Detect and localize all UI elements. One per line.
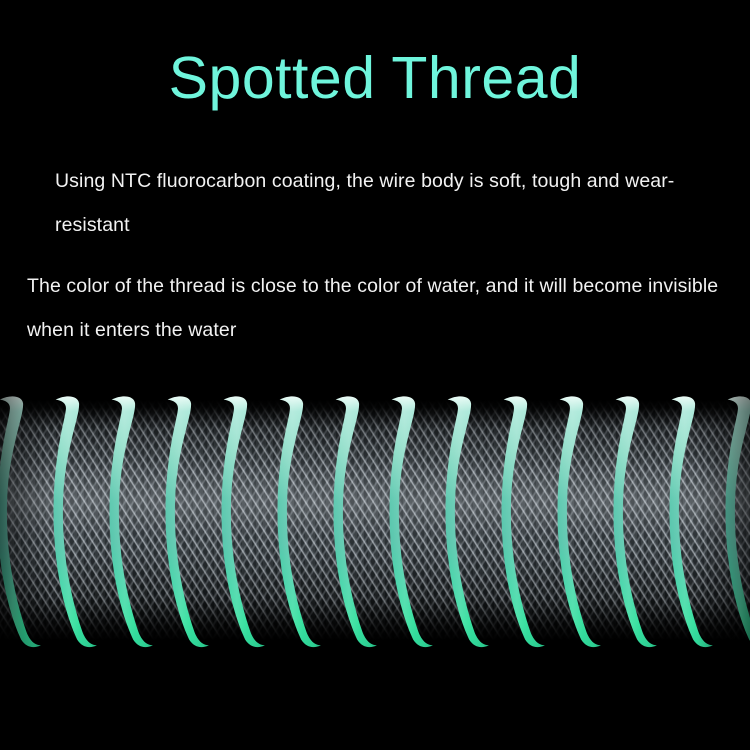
product-photo xyxy=(0,370,750,670)
product-detail-page: Spotted Thread Using NTC fluorocarbon co… xyxy=(0,0,750,750)
spool-carbon-body xyxy=(0,400,750,640)
description-paragraph-2: The color of the thread is close to the … xyxy=(27,264,743,352)
page-title: Spotted Thread xyxy=(0,44,750,112)
description-paragraph-1: Using NTC fluorocarbon coating, the wire… xyxy=(55,159,715,247)
